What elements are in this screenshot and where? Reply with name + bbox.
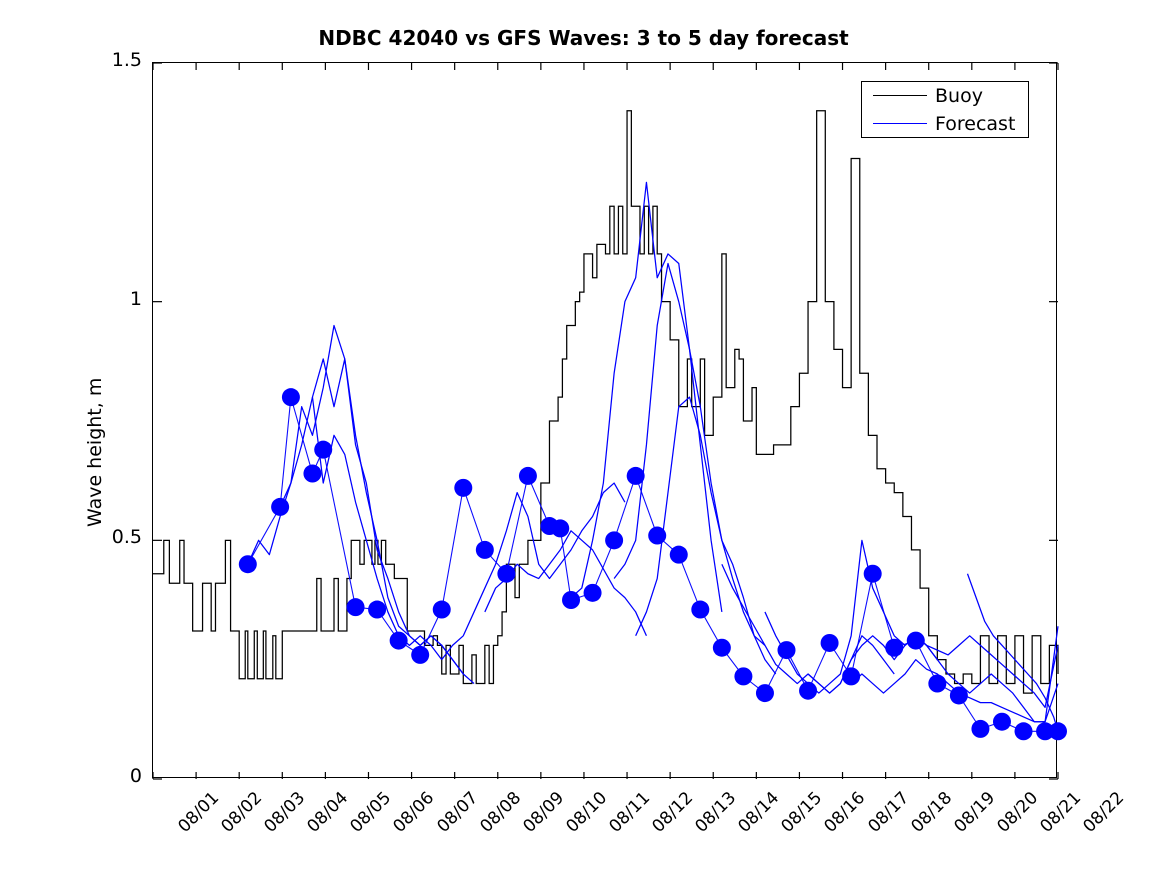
data-point bbox=[476, 541, 494, 559]
legend-item[interactable]: Forecast bbox=[862, 110, 1030, 138]
x-tick-label: 08/14 bbox=[735, 788, 784, 837]
data-point bbox=[756, 684, 774, 702]
legend: BuoyForecast bbox=[861, 81, 1029, 138]
x-tick-label: 08/03 bbox=[261, 788, 310, 837]
data-point bbox=[519, 467, 537, 485]
data-point bbox=[950, 686, 968, 704]
legend-label: Buoy bbox=[935, 82, 983, 110]
x-tick-label: 08/18 bbox=[907, 788, 956, 837]
forecast-line bbox=[280, 359, 474, 684]
forecast-line bbox=[571, 182, 722, 612]
data-point bbox=[799, 682, 817, 700]
data-point bbox=[627, 467, 645, 485]
data-point bbox=[271, 498, 289, 516]
forecast-line bbox=[485, 531, 647, 636]
chart-figure: NDBC 42040 vs GFS Waves: 3 to 5 day fore… bbox=[0, 0, 1167, 875]
data-point bbox=[497, 565, 515, 583]
data-point bbox=[368, 601, 386, 619]
x-tick-label: 08/16 bbox=[821, 788, 870, 837]
x-tick-label: 08/21 bbox=[1036, 788, 1085, 837]
forecast-lines bbox=[248, 182, 1058, 731]
data-point bbox=[864, 565, 882, 583]
x-tick-label: 08/17 bbox=[864, 788, 913, 837]
x-tick-label: 08/05 bbox=[347, 788, 396, 837]
data-point bbox=[239, 555, 257, 573]
data-point bbox=[928, 675, 946, 693]
data-point bbox=[433, 601, 451, 619]
data-point bbox=[605, 531, 623, 549]
data-point bbox=[314, 441, 332, 459]
x-tick-label: 08/08 bbox=[476, 788, 525, 837]
x-tick-label: 08/11 bbox=[605, 788, 654, 837]
data-point bbox=[971, 720, 989, 738]
forecast-line bbox=[312, 397, 441, 660]
x-tick-label: 08/10 bbox=[562, 788, 611, 837]
data-point bbox=[648, 527, 666, 545]
data-point bbox=[842, 667, 860, 685]
data-point bbox=[691, 601, 709, 619]
data-point bbox=[454, 479, 472, 497]
data-point bbox=[411, 646, 429, 664]
x-tick-label: 08/09 bbox=[519, 788, 568, 837]
data-point bbox=[670, 546, 688, 564]
plot-area bbox=[152, 62, 1057, 778]
legend-swatch-forecast bbox=[873, 123, 927, 124]
x-tick-label: 08/02 bbox=[217, 788, 266, 837]
data-point bbox=[713, 639, 731, 657]
x-tick-label: 08/01 bbox=[174, 788, 223, 837]
forecast-line bbox=[614, 263, 765, 645]
forecast-line bbox=[442, 483, 625, 660]
x-tick-label: 08/15 bbox=[778, 788, 827, 837]
data-point bbox=[778, 641, 796, 659]
legend-swatch-buoy bbox=[873, 95, 927, 96]
data-point bbox=[821, 634, 839, 652]
x-tick-label: 08/19 bbox=[950, 788, 999, 837]
data-point bbox=[282, 388, 300, 406]
x-tick-label: 08/22 bbox=[1079, 788, 1128, 837]
data-point bbox=[993, 713, 1011, 731]
x-tick-label: 08/12 bbox=[648, 788, 697, 837]
data-point bbox=[390, 632, 408, 650]
data-point bbox=[551, 519, 569, 537]
legend-item[interactable]: Buoy bbox=[862, 82, 1030, 110]
x-tick-label: 08/04 bbox=[304, 788, 353, 837]
x-tick-label: 08/06 bbox=[390, 788, 439, 837]
data-point bbox=[347, 598, 365, 616]
data-point bbox=[562, 591, 580, 609]
data-point bbox=[303, 465, 321, 483]
legend-label: Forecast bbox=[935, 110, 1015, 138]
x-tick-label: 08/20 bbox=[993, 788, 1042, 837]
x-tick-label: 08/07 bbox=[433, 788, 482, 837]
data-point bbox=[584, 584, 602, 602]
data-point bbox=[885, 639, 903, 657]
data-point bbox=[1049, 722, 1067, 740]
data-point bbox=[734, 667, 752, 685]
x-tick-label: 08/13 bbox=[691, 788, 740, 837]
plot-canvas bbox=[153, 63, 1058, 779]
forecast-line bbox=[968, 574, 1059, 732]
data-point bbox=[907, 632, 925, 650]
data-point bbox=[1015, 722, 1033, 740]
